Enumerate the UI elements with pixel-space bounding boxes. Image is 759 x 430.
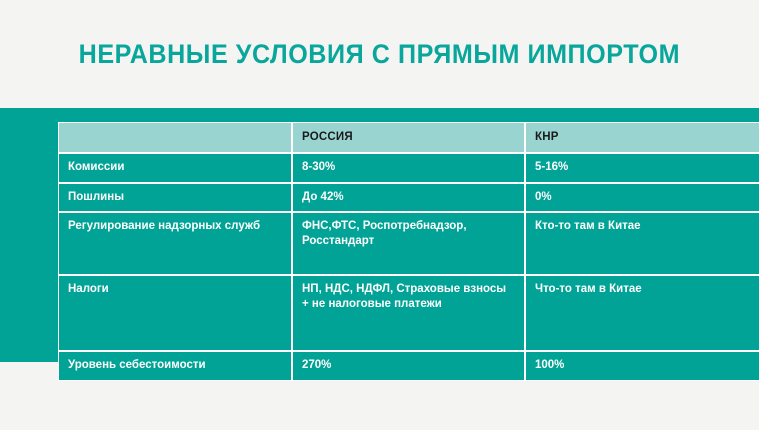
table-row: Комиссии 8-30% 5-16%: [58, 153, 759, 183]
cell-russia-cost-level: 270%: [292, 351, 525, 381]
page-title: НЕРАВНЫЕ УСЛОВИЯ С ПРЯМЫМ ИМПОРТОМ: [79, 41, 680, 68]
table-row: Регулирование надзорных служб ФНС,ФТС, Р…: [58, 212, 759, 275]
cell-china-regulation: Кто-то там в Китае: [525, 212, 759, 275]
row-label-commission: Комиссии: [58, 153, 292, 183]
row-label-duties: Пошлины: [58, 183, 292, 213]
cell-china-commission: 5-16%: [525, 153, 759, 183]
cell-russia-taxes: НП, НДС, НДФЛ, Страховые взносы + не нал…: [292, 275, 525, 351]
table-row: Пошлины До 42% 0%: [58, 183, 759, 213]
cell-russia-regulation: ФНС,ФТС, Роспотребнадзор, Росстандарт: [292, 212, 525, 275]
table-header-cell-russia: РОССИЯ: [292, 122, 525, 153]
cell-russia-duties: До 42%: [292, 183, 525, 213]
cell-russia-commission: 8-30%: [292, 153, 525, 183]
slide-root: НЕРАВНЫЕ УСЛОВИЯ С ПРЯМЫМ ИМПОРТОМ РОССИ…: [0, 0, 759, 430]
row-label-regulation: Регулирование надзорных служб: [58, 212, 292, 275]
cell-china-taxes: Что-то там в Китае: [525, 275, 759, 351]
table-row: Налоги НП, НДС, НДФЛ, Страховые взносы +…: [58, 275, 759, 351]
table-header-row: РОССИЯ КНР: [58, 122, 759, 153]
row-label-cost-level: Уровень себестоимости: [58, 351, 292, 381]
row-label-taxes: Налоги: [58, 275, 292, 351]
cell-china-cost-level: 100%: [525, 351, 759, 381]
table-header-cell-china: КНР: [525, 122, 759, 153]
table-header-cell-label: [58, 122, 292, 153]
table-row: Уровень себестоимости 270% 100%: [58, 351, 759, 381]
title-area: НЕРАВНЫЕ УСЛОВИЯ С ПРЯМЫМ ИМПОРТОМ: [0, 0, 759, 108]
comparison-table-container: РОССИЯ КНР Комиссии 8-30% 5-16% Пошлины …: [58, 122, 704, 381]
comparison-table: РОССИЯ КНР Комиссии 8-30% 5-16% Пошлины …: [58, 122, 759, 381]
cell-china-duties: 0%: [525, 183, 759, 213]
